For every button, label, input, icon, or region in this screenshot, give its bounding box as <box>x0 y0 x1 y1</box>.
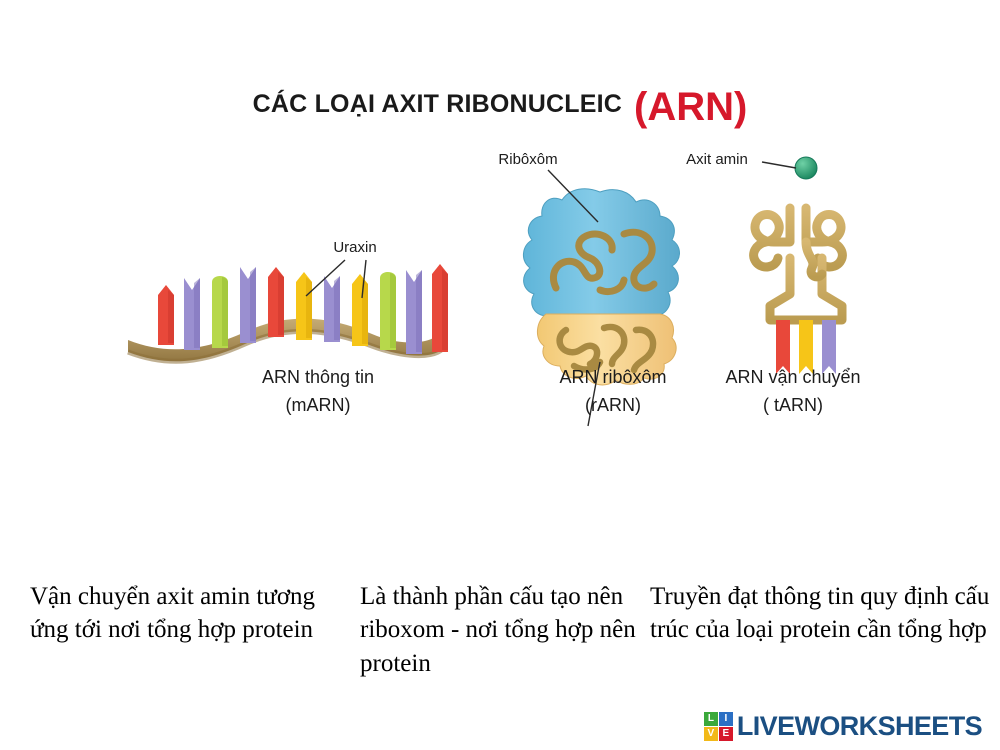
tarn-cloverleaf <box>754 176 843 320</box>
logo-tile-v: V <box>704 727 718 741</box>
logo-tile-l: L <box>704 712 718 726</box>
part-label-marn-line2: (mARN) <box>286 395 351 415</box>
ribosome-large-subunit <box>523 189 679 316</box>
rna-types-diagram: Uraxin ARN thông tin (mARN) Ribôxôm <box>0 130 1000 430</box>
answer-text-rarn: Là thành phần cấu tạo nên riboxom - nơi … <box>330 580 640 680</box>
marn-base-1 <box>158 285 174 345</box>
marn-base-3 <box>212 276 228 348</box>
marn-base-uraxin-2 <box>352 274 368 346</box>
logo-wordmark: LIVEWORKSHEETS <box>737 711 982 742</box>
marn-base-uraxin-1 <box>296 272 312 340</box>
page-title-abbreviation: (ARN) <box>634 85 747 129</box>
part-label-rarn-line1: ARN ribôxôm <box>559 367 666 387</box>
tarn-anticodon-3 <box>822 320 836 374</box>
callout-label-uraxin: Uraxin <box>333 239 376 256</box>
marn-base-4 <box>240 267 256 343</box>
liveworksheets-logo[interactable]: L I V E LIVEWORKSHEETS <box>704 711 982 742</box>
page-title: CÁC LOẠI AXIT RIBONUCLEIC(ARN) <box>0 82 1000 127</box>
tarn-anticodon-1 <box>776 320 790 374</box>
logo-tile-i: I <box>719 712 733 726</box>
logo-tiles: L I V E <box>704 712 733 741</box>
page-title-main: CÁC LOẠI AXIT RIBONUCLEIC <box>253 90 622 118</box>
tarn-illustration: Axit amin ARN vận chuyển ( tARN) <box>686 151 860 415</box>
marn-illustration: Uraxin ARN thông tin (mARN) <box>128 239 448 415</box>
answer-text-marn: Truyền đạt thông tin quy định cấu trúc c… <box>640 580 1000 680</box>
part-label-tarn-line2: ( tARN) <box>763 395 823 415</box>
marn-base-7 <box>324 276 340 342</box>
marn-base-2 <box>184 278 200 350</box>
amino-acid-ball <box>795 157 817 179</box>
callout-label-axit-amin: Axit amin <box>686 151 748 168</box>
logo-tile-e: E <box>719 727 733 741</box>
answer-columns: Vận chuyển axit amin tương ứng tới nơi t… <box>0 580 1000 680</box>
part-label-marn-line1: ARN thông tin <box>262 367 374 387</box>
rarn-illustration: Ribôxôm ARN ribôxôm (rARN) <box>498 151 679 426</box>
marn-base-11 <box>432 264 448 352</box>
answer-text-tarn: Vận chuyển axit amin tương ứng tới nơi t… <box>0 580 330 680</box>
part-label-tarn-line1: ARN vận chuyển <box>725 367 860 387</box>
marn-base-9 <box>380 272 396 350</box>
callout-leader-axit-amin <box>762 162 796 168</box>
part-label-rarn-line2: (rARN) <box>585 395 641 415</box>
callout-label-riboxom: Ribôxôm <box>498 151 557 168</box>
tarn-anticodon-2 <box>799 320 813 374</box>
marn-base-5 <box>268 267 284 337</box>
marn-base-10 <box>406 270 422 354</box>
